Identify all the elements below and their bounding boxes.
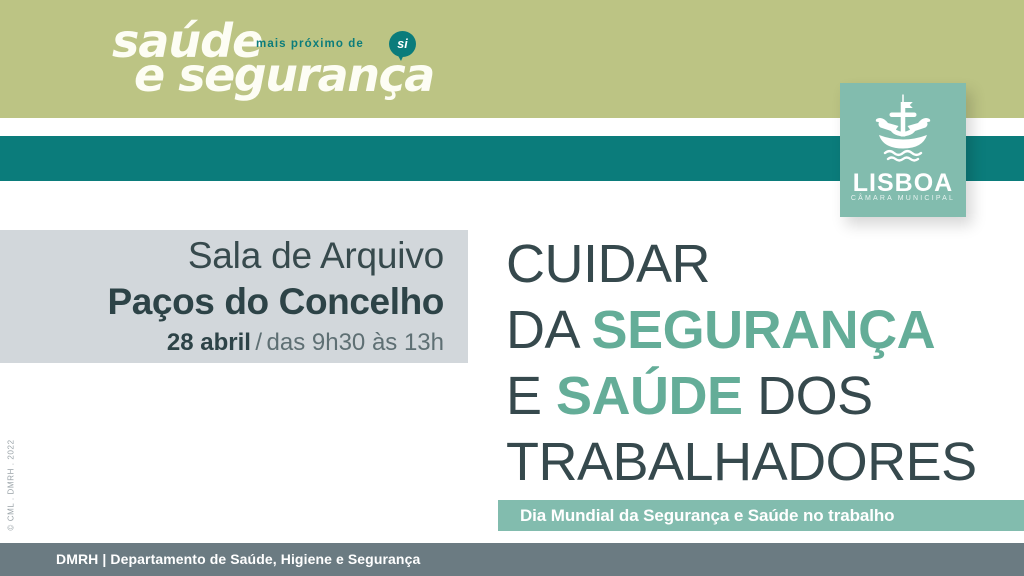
headline-dos: DOS [743, 366, 873, 426]
logo-line-seguranca: e segurança [134, 52, 434, 98]
footer-department-label: DMRH | Departamento de Saúde, Higiene e … [56, 543, 420, 576]
page-title: CUIDAR DA SEGURANÇA E SAÚDE DOS TRABALHA… [506, 231, 1006, 495]
logo-tagline: mais próximo de [256, 38, 364, 50]
headline-seguranca: SEGURANÇA [592, 300, 936, 360]
venue-building: Paços do Concelho [107, 282, 444, 323]
event-datetime: 28 abril / das 9h30 às 13h [167, 330, 444, 356]
headline-line-2: DA SEGURANÇA [506, 297, 1006, 363]
headline-trabalhadores: TRABALHADORES [506, 432, 977, 492]
copyright-credit: © CML . DMRH . 2022 [2, 430, 20, 540]
lisbon-coat-of-arms-ship-ravens-icon [865, 93, 941, 165]
speech-bubble-icon: si [389, 31, 416, 57]
saude-seguranca-logo: saúde e segurança mais próximo de si [104, 18, 424, 108]
tagline-badge-label: si [389, 31, 416, 57]
event-time: das 9h30 às 13h [267, 329, 444, 356]
headline-cuidar: CUIDAR [506, 234, 710, 294]
subtitle-banner: Dia Mundial da Segurança e Saúde no trab… [498, 500, 1024, 531]
headline-line-1: CUIDAR [506, 231, 1006, 297]
lisboa-badge-subtitle: CÂMARA MUNICIPAL [840, 195, 966, 202]
event-info-card: Sala de Arquivo Paços do Concelho 28 abr… [0, 230, 468, 363]
headline-line-4: TRABALHADORES [506, 429, 1006, 495]
venue-room: Sala de Arquivo [188, 236, 444, 277]
subtitle-banner-label: Dia Mundial da Segurança e Saúde no trab… [520, 500, 894, 531]
copyright-credit-label: © CML . DMRH . 2022 [7, 439, 16, 530]
poster-canvas: saúde e segurança mais próximo de si [0, 0, 1024, 576]
headline-da: DA [506, 300, 592, 360]
headline-saude: SAÚDE [556, 366, 743, 426]
headline-line-3: E SAÚDE DOS [506, 363, 1006, 429]
headline-e: E [506, 366, 556, 426]
lisboa-badge-name: LISBOA [840, 171, 966, 196]
datetime-separator: / [255, 329, 262, 356]
lisboa-city-badge: LISBOA CÂMARA MUNICIPAL [840, 83, 966, 217]
footer-bar: DMRH | Departamento de Saúde, Higiene e … [0, 543, 1024, 576]
event-date: 28 abril [167, 329, 251, 356]
